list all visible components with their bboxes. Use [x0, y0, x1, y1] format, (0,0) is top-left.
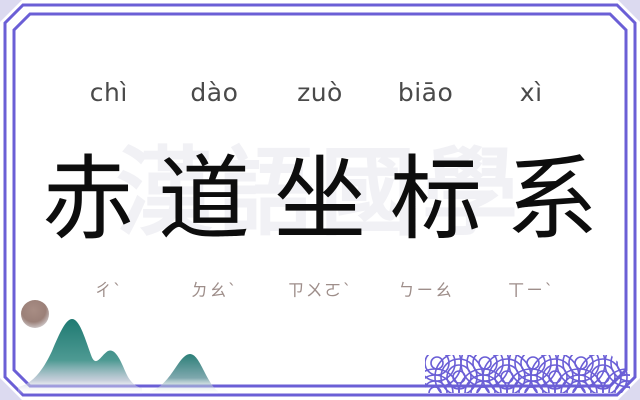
pinyin-syllable: chì [56, 78, 162, 107]
pinyin-syllable: xì [478, 78, 584, 107]
hanzi-row: 赤 道 坐 标 系 [30, 140, 610, 260]
zhuyin-row: ㄔˋ ㄉㄠˋ ㄗㄨㄛˋ ㄅㄧㄠ ㄒㄧˋ [56, 276, 584, 301]
pinyin-syllable: zuò [267, 78, 373, 107]
hanzi-character: 道 [146, 145, 262, 255]
zhuyin-syllable: ㄉㄠˋ [162, 276, 268, 301]
zhuyin-syllable: ㄅㄧㄠ [373, 276, 479, 301]
sun-circle-icon [21, 300, 49, 328]
hanzi-character: 赤 [30, 145, 146, 255]
mountain-range-icon [18, 299, 218, 394]
hanzi-character: 系 [494, 145, 610, 255]
hanzi-character: 坐 [262, 145, 378, 255]
zhuyin-syllable: ㄒㄧˋ [478, 276, 584, 301]
pinyin-row: chì dào zuò biāo xì [56, 78, 584, 107]
zhuyin-syllable: ㄔˋ [56, 276, 162, 301]
word-card: 漢語國學 chì dào zuò biāo xì 赤 道 坐 标 系 ㄔˋ ㄉㄠ… [0, 0, 640, 400]
zhuyin-syllable: ㄗㄨㄛˋ [267, 276, 373, 301]
seigaiha-wave-icon [425, 333, 630, 393]
hanzi-character: 标 [378, 145, 494, 255]
pinyin-syllable: biāo [373, 78, 479, 107]
pinyin-syllable: dào [162, 78, 268, 107]
